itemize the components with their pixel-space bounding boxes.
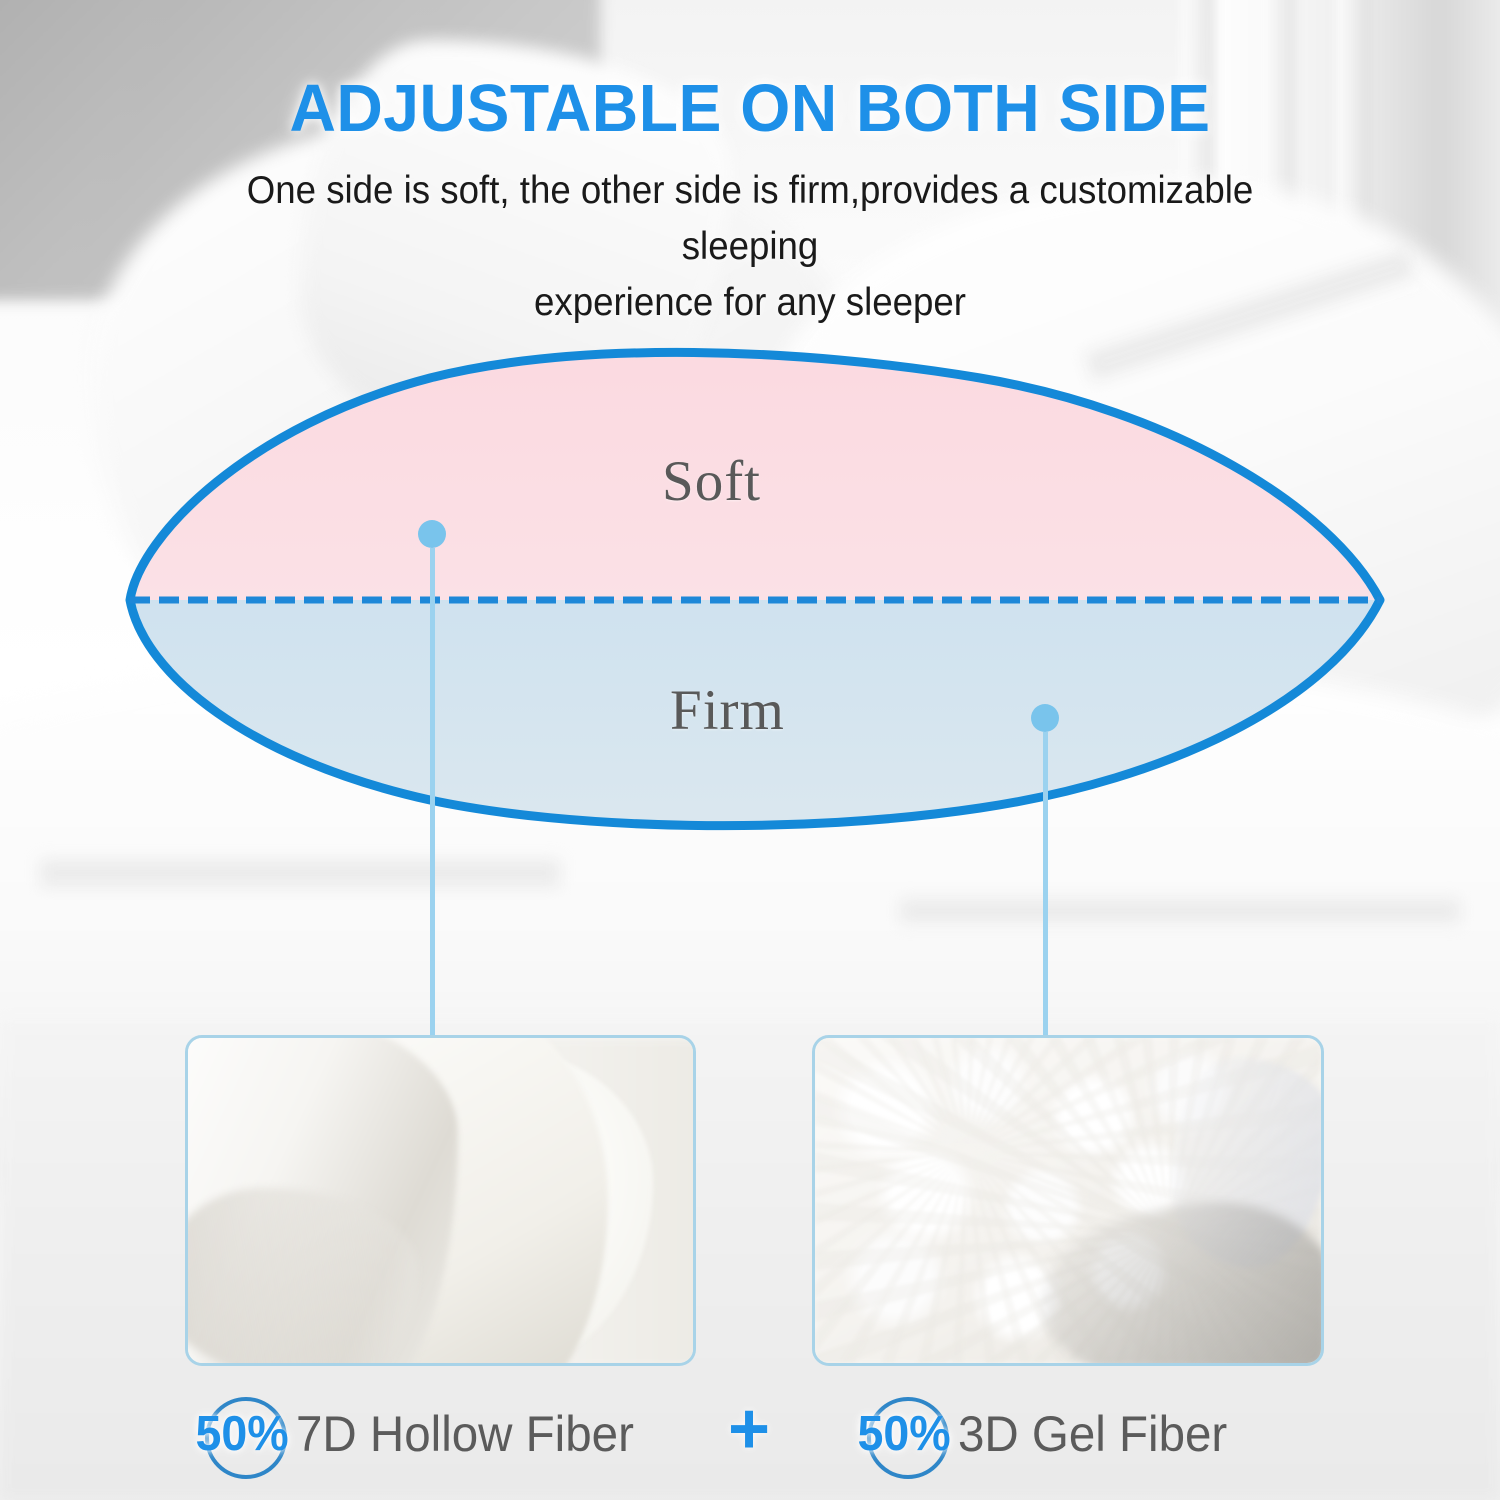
pillow-fill-group — [100, 330, 1410, 850]
plus-icon: + — [722, 1406, 776, 1460]
percent-value: 50% — [857, 1406, 950, 1462]
material-label-hollow-fiber: 7D Hollow Fiber — [296, 1405, 634, 1463]
material-legend: 50% 7D Hollow Fiber + 50% 3D Gel Fiber — [0, 1392, 1500, 1482]
material-label-gel-fiber: 3D Gel Fiber — [958, 1405, 1227, 1463]
infographic-canvas: ADJUSTABLE ON BOTH SIDE One side is soft… — [0, 0, 1500, 1500]
percent-badge-hollow-fiber: 50% — [200, 1392, 284, 1476]
background-crease-2 — [900, 900, 1460, 922]
firm-side-label: Firm — [670, 678, 785, 743]
connector-dot-left — [418, 520, 446, 548]
percent-value: 50% — [195, 1406, 288, 1462]
legend-item-gel-fiber: 50% 3D Gel Fiber — [862, 1392, 1241, 1476]
pillow-shape-svg — [100, 330, 1410, 850]
percent-badge-gel-fiber: 50% — [862, 1392, 946, 1476]
connector-line-right — [1043, 732, 1048, 1038]
gel-fiber-photo-image — [815, 1038, 1321, 1363]
pillow-cross-section-diagram — [100, 330, 1410, 850]
connector-dot-right — [1031, 704, 1059, 732]
hollow-fiber-photo-panel — [185, 1035, 696, 1366]
subtitle-line-2: experience for any sleeper — [186, 275, 1314, 331]
hollow-fiber-photo-image — [188, 1038, 693, 1363]
subtitle-line-1: One side is soft, the other side is firm… — [186, 163, 1314, 275]
page-title: ADJUSTABLE ON BOTH SIDE — [30, 70, 1470, 147]
connector-line-left — [430, 548, 435, 1038]
gel-fiber-photo-panel — [812, 1035, 1324, 1366]
page-subtitle: One side is soft, the other side is firm… — [186, 163, 1314, 331]
legend-item-hollow-fiber: 50% 7D Hollow Fiber — [200, 1392, 652, 1476]
soft-side-label: Soft — [662, 449, 761, 514]
background-crease-1 — [40, 860, 560, 886]
